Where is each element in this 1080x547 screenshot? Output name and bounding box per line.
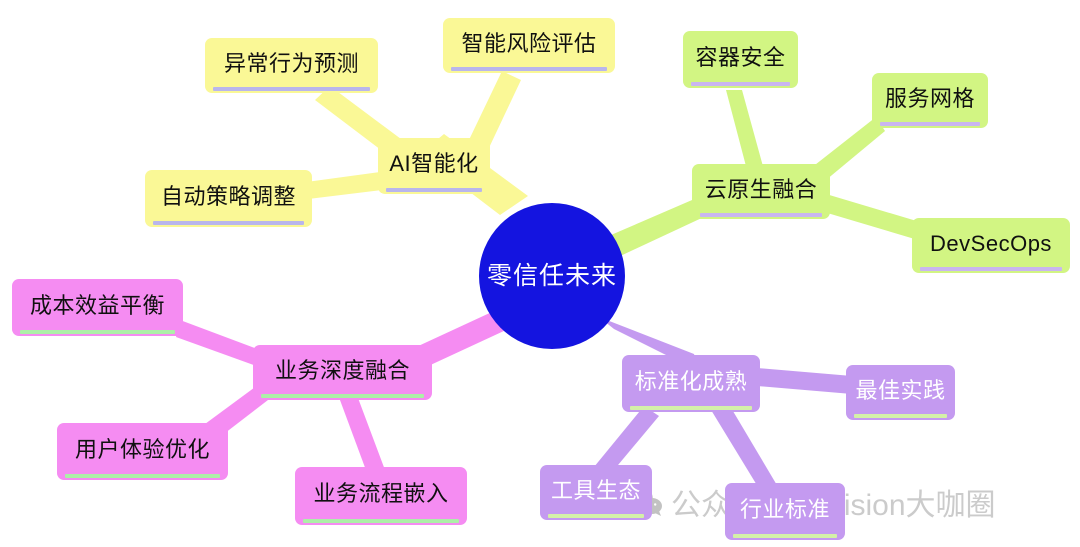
node-tool-ecosystem[interactable]: 工具生态 (540, 465, 652, 520)
node-underline (691, 82, 790, 86)
node-underline (451, 67, 607, 71)
node-best-practices[interactable]: 最佳实践 (846, 365, 955, 420)
node-label: DevSecOps (920, 233, 1062, 259)
edge-standard-practice (757, 368, 852, 394)
node-label: 容器安全 (685, 47, 795, 73)
mindmap-canvas: AI智能化 异常行为预测 智能风险评估 自动策略调整 云原生融合 容器安全 服务… (0, 0, 1080, 547)
node-underline (548, 514, 644, 518)
node-label: 成本效益平衡 (20, 295, 175, 321)
edge-business-cost (176, 320, 262, 368)
node-label: 最佳实践 (846, 380, 956, 406)
edge-cloud-container (726, 90, 764, 170)
node-underline (153, 221, 304, 225)
node-underline (65, 474, 220, 478)
node-devsecops[interactable]: DevSecOps (912, 218, 1070, 273)
node-label: 异常行为预测 (214, 53, 369, 79)
edge-cloud-devsecops (824, 194, 920, 240)
node-label: 业务流程嵌入 (303, 483, 458, 509)
node-label: AI智能化 (379, 153, 488, 179)
node-user-experience-optimization[interactable]: 用户体验优化 (57, 423, 228, 480)
node-underline (733, 534, 837, 538)
node-label: 自动策略调整 (151, 186, 306, 212)
node-auto-policy-adjustment[interactable]: 自动策略调整 (145, 170, 312, 227)
node-ai-branch[interactable]: AI智能化 (378, 138, 490, 194)
node-underline (386, 188, 482, 192)
node-label: 工具生态 (541, 480, 651, 506)
node-underline (20, 330, 175, 334)
node-label: 行业标准 (730, 499, 840, 525)
node-service-mesh[interactable]: 服务网格 (872, 73, 988, 128)
node-underline (303, 519, 459, 523)
node-label: 用户体验优化 (65, 439, 220, 465)
node-container-security[interactable]: 容器安全 (683, 31, 798, 88)
node-label: 标准化成熟 (625, 371, 758, 397)
node-business-integration-branch[interactable]: 业务深度融合 (253, 345, 432, 400)
node-underline (630, 406, 752, 410)
node-label: 智能风险评估 (451, 33, 606, 59)
node-label: 服务网格 (875, 88, 985, 114)
root-node-label: 零信任未来 (487, 264, 617, 289)
node-underline (880, 122, 980, 126)
node-underline (213, 87, 370, 91)
node-underline (920, 267, 1062, 271)
root-node-zero-trust-future[interactable]: 零信任未来 (479, 203, 625, 349)
node-cloud-native-branch[interactable]: 云原生融合 (692, 164, 830, 219)
node-underline (261, 394, 424, 398)
node-underline (854, 414, 947, 418)
node-intelligent-risk-assessment[interactable]: 智能风险评估 (443, 18, 615, 73)
node-industry-standards[interactable]: 行业标准 (725, 483, 845, 540)
node-standardization-branch[interactable]: 标准化成熟 (622, 355, 760, 412)
node-label: 业务深度融合 (265, 360, 420, 386)
node-underline (700, 213, 822, 217)
node-label: 云原生融合 (695, 179, 828, 205)
node-business-process-embedding[interactable]: 业务流程嵌入 (295, 467, 467, 525)
node-cost-benefit-balance[interactable]: 成本效益平衡 (12, 279, 183, 336)
node-anomaly-prediction[interactable]: 异常行为预测 (205, 38, 378, 93)
